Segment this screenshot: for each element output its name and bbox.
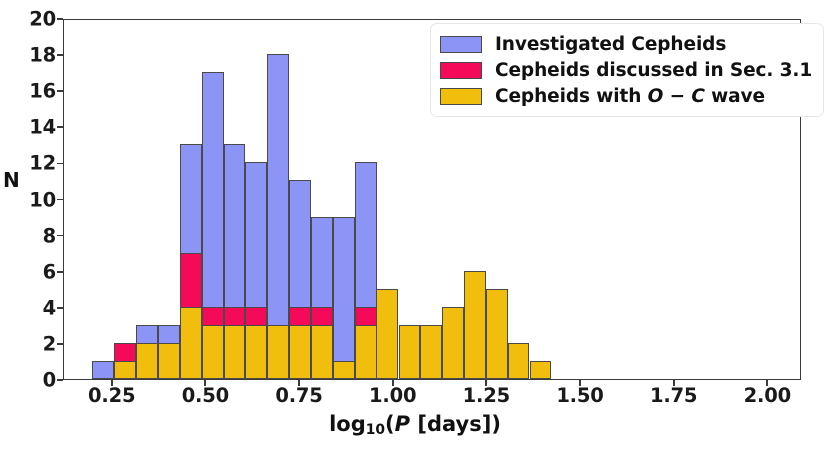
y-tick-label: 14 — [4, 116, 56, 139]
bar-segment-oc-wave — [136, 343, 158, 379]
bar-segment-oc-wave — [158, 343, 180, 379]
x-tick-mark — [111, 380, 113, 386]
y-tick-label: 10 — [4, 188, 56, 211]
histogram-bar — [267, 54, 289, 379]
histogram-bar — [289, 180, 311, 379]
x-tick-mark — [298, 380, 300, 386]
xlabel-close-paren: ) — [491, 412, 501, 436]
legend-label-oc-wave: Cepheids with O − C wave — [495, 86, 765, 107]
x-tick-mark — [579, 380, 581, 386]
y-tick-label: 16 — [4, 80, 56, 103]
histogram-bar — [202, 72, 224, 379]
y-tick-label: 18 — [4, 44, 56, 67]
x-tick-mark — [392, 380, 394, 386]
histogram-bar — [486, 289, 508, 379]
x-tick-mark — [485, 380, 487, 386]
legend-label-discussed: Cepheids discussed in Sec. 3.1 — [495, 60, 812, 81]
histogram-bar — [530, 361, 552, 379]
histogram-bar — [508, 343, 530, 379]
x-tick-label: 1.50 — [556, 384, 603, 407]
legend-swatch-blue — [440, 36, 482, 53]
xlabel-log: log — [329, 412, 366, 436]
bar-segment-oc-wave — [114, 361, 136, 379]
xlabel-unit: [days] — [410, 412, 491, 436]
histogram-bar — [399, 325, 421, 379]
y-tick-label: 0 — [4, 369, 56, 392]
histogram-bar — [136, 325, 158, 379]
bar-segment-oc-wave — [399, 325, 421, 379]
bar-segment-oc-wave — [464, 271, 486, 379]
x-tick-mark — [673, 380, 675, 386]
x-tick-mark — [766, 380, 768, 386]
legend: Investigated Cepheids Cepheids discussed… — [430, 23, 824, 117]
bar-segment-oc-wave — [267, 325, 289, 379]
bar-segment-oc-wave — [508, 343, 530, 379]
bar-segment-oc-wave — [245, 325, 267, 379]
x-tick-label: 1.00 — [369, 384, 416, 407]
histogram-bar — [442, 307, 464, 379]
bar-segment-oc-wave — [289, 325, 311, 379]
histogram-bar — [158, 325, 180, 379]
y-tick-label: 12 — [4, 152, 56, 175]
bar-segment-oc-wave — [442, 307, 464, 379]
x-tick-label: 1.75 — [650, 384, 697, 407]
histogram-bar — [180, 144, 202, 379]
bar-segment-oc-wave — [420, 325, 442, 379]
legend-oc-suffix: wave — [705, 86, 765, 107]
xlabel-open-paren: ( — [385, 412, 395, 436]
chart-root: N 02468101214161820 0.250.500.751.001.25… — [0, 0, 830, 453]
histogram-bar — [92, 361, 114, 379]
legend-item-investigated: Investigated Cepheids — [440, 31, 812, 57]
histogram-bar — [355, 162, 377, 379]
legend-swatch-gold — [440, 88, 482, 105]
x-tick-mark — [204, 380, 206, 386]
legend-swatch-red — [440, 62, 482, 79]
bar-segment-oc-wave — [530, 361, 552, 379]
bar-segment-investigated — [333, 217, 355, 379]
histogram-bar — [420, 325, 442, 379]
y-tick-label: 8 — [4, 224, 56, 247]
y-tick-label: 20 — [4, 8, 56, 31]
bar-segment-oc-wave — [311, 325, 333, 379]
x-axis-label: log10(P [days]) — [0, 412, 830, 438]
bar-segment-oc-wave — [486, 289, 508, 379]
xlabel-period-symbol: P — [395, 412, 410, 436]
x-tick-label: 0.50 — [182, 384, 229, 407]
legend-oc-prefix: Cepheids with — [495, 86, 648, 107]
histogram-bar — [245, 162, 267, 379]
y-tick-label: 6 — [4, 260, 56, 283]
bar-segment-oc-wave — [355, 325, 377, 379]
x-tick-label: 0.25 — [88, 384, 135, 407]
legend-oc-symbol: O − C — [648, 86, 705, 107]
bar-segment-investigated — [92, 361, 114, 379]
bar-segment-oc-wave — [180, 307, 202, 379]
bar-segment-oc-wave — [224, 325, 246, 379]
x-tick-label: 0.75 — [275, 384, 322, 407]
bar-segment-oc-wave — [333, 361, 355, 379]
histogram-bar — [464, 271, 486, 379]
histogram-bar — [114, 343, 136, 379]
y-tick-label: 2 — [4, 332, 56, 355]
xlabel-base: 10 — [366, 422, 385, 438]
y-tick-label: 4 — [4, 296, 56, 319]
x-tick-label: 2.00 — [744, 384, 791, 407]
legend-item-oc-wave: Cepheids with O − C wave — [440, 83, 812, 109]
bar-segment-oc-wave — [202, 325, 224, 379]
histogram-bar — [224, 144, 246, 379]
histogram-bar — [333, 217, 355, 379]
histogram-bar — [376, 289, 398, 379]
histogram-bar — [311, 217, 333, 379]
x-tick-label: 1.25 — [463, 384, 510, 407]
legend-item-discussed: Cepheids discussed in Sec. 3.1 — [440, 57, 812, 83]
bar-segment-oc-wave — [376, 289, 398, 379]
legend-label-investigated: Investigated Cepheids — [495, 34, 726, 55]
